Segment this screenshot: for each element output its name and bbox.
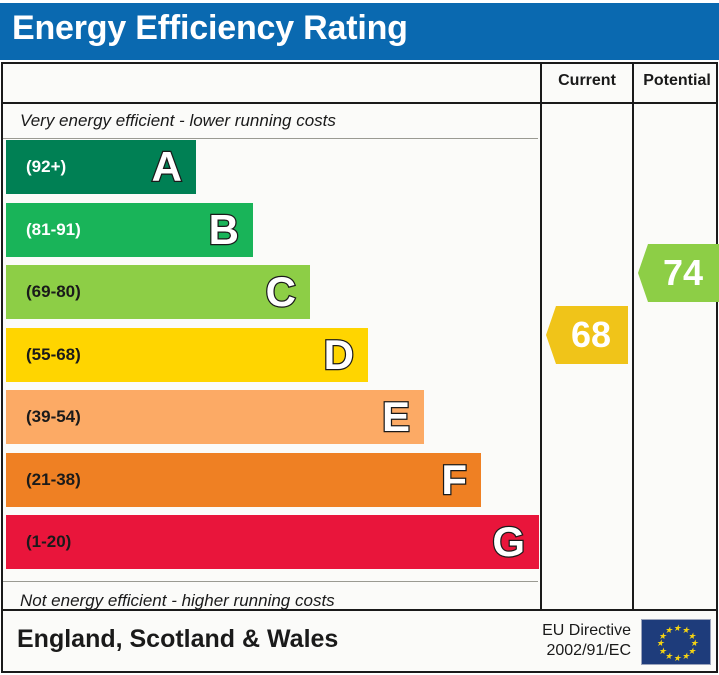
rating-grid: Current Potential Very energy efficient … [1, 62, 718, 611]
band-bar-c: (69-80)C [6, 265, 310, 319]
eu-directive-label: EU Directive 2002/91/EC [523, 621, 631, 661]
band-bars: (92+)A(81-91)B(69-80)C(55-68)D(39-54)E(2… [6, 140, 539, 580]
band-range-g: (1-20) [26, 532, 71, 552]
rating-value-potential: 74 [655, 255, 703, 291]
band-letter-a: A [152, 146, 182, 188]
band-range-c: (69-80) [26, 282, 81, 302]
band-bar-a: (92+)A [6, 140, 196, 194]
band-letter-f: F [441, 459, 467, 501]
band-range-b: (81-91) [26, 220, 81, 240]
header-rule [3, 102, 716, 104]
band-bar-b: (81-91)B [6, 203, 253, 257]
title-bar: Energy Efficiency Rating [0, 3, 719, 60]
epc-certificate: Energy Efficiency Rating Current Potenti… [0, 0, 719, 675]
caption-rule-bottom [3, 581, 538, 582]
band-bar-d: (55-68)D [6, 328, 368, 382]
caption-top: Very energy efficient - lower running co… [20, 111, 336, 131]
eu-directive-line1: EU Directive [523, 621, 631, 641]
band-letter-g: G [492, 521, 525, 563]
footer: England, Scotland & Wales EU Directive 2… [1, 611, 718, 673]
band-range-e: (39-54) [26, 407, 81, 427]
band-bar-g: (1-20)G [6, 515, 539, 569]
rating-value-current: 68 [563, 317, 611, 353]
region-label: England, Scotland & Wales [17, 625, 338, 654]
band-range-a: (92+) [26, 157, 66, 177]
rating-arrow-potential: 74 [638, 244, 719, 302]
rating-arrow-current: 68 [546, 306, 628, 364]
column-header-current: Current [542, 72, 632, 90]
page-title: Energy Efficiency Rating [12, 9, 408, 48]
caption-bottom: Not energy efficient - higher running co… [20, 591, 335, 611]
band-letter-c: C [266, 271, 296, 313]
column-divider-potential [632, 64, 634, 609]
column-divider-current [540, 64, 542, 609]
band-bar-e: (39-54)E [6, 390, 424, 444]
band-range-d: (55-68) [26, 345, 81, 365]
band-letter-b: B [209, 209, 239, 251]
column-header-potential: Potential [634, 72, 719, 90]
eu-flag-icon [641, 619, 711, 665]
band-letter-d: D [324, 334, 354, 376]
band-range-f: (21-38) [26, 470, 81, 490]
band-letter-e: E [382, 396, 410, 438]
caption-rule-top [3, 138, 538, 139]
band-bar-f: (21-38)F [6, 453, 481, 507]
eu-directive-line2: 2002/91/EC [523, 641, 631, 661]
